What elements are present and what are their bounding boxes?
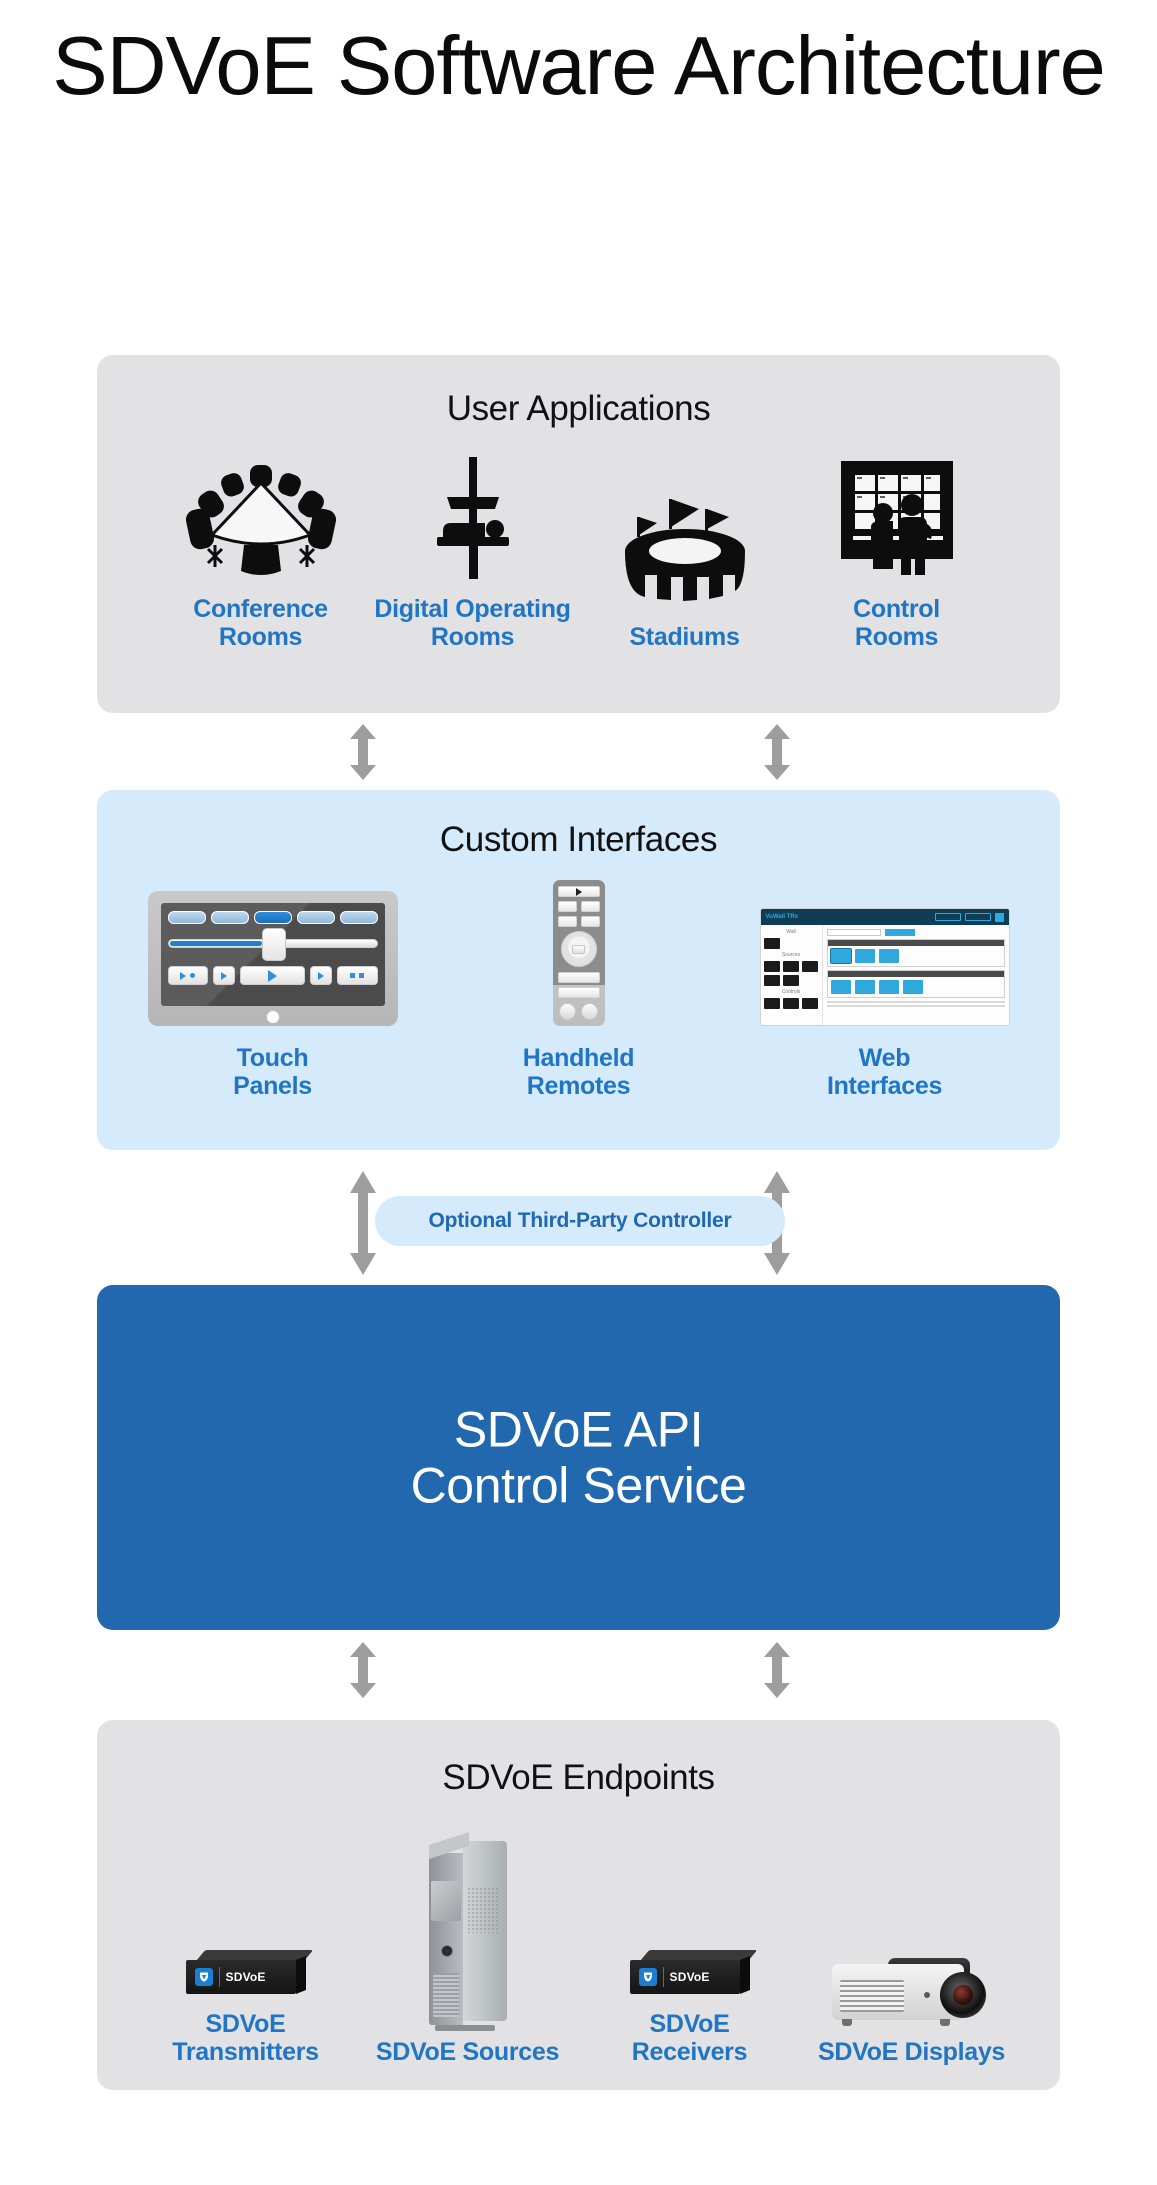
- item-conference-rooms[interactable]: Conference Rooms: [155, 449, 367, 651]
- double-arrow-vertical-icon: [350, 724, 376, 780]
- web-thumb[interactable]: [802, 998, 818, 1009]
- touch-panel-tab[interactable]: [340, 911, 378, 924]
- projector-lens: [940, 1972, 986, 2018]
- conference-room-icon: [155, 449, 367, 579]
- remote-key[interactable]: [558, 916, 577, 927]
- web-filter-select[interactable]: [827, 929, 881, 936]
- touch-panel-tab[interactable]: [168, 911, 206, 924]
- panel-title-sdvoe-endpoints: SDVoE Endpoints: [97, 1758, 1060, 1798]
- computer-tower-icon: [357, 1836, 579, 2026]
- web-thumb[interactable]: [764, 961, 780, 972]
- remote-ok-button[interactable]: [572, 945, 585, 954]
- web-tile[interactable]: [855, 949, 875, 963]
- web-toolbar-button[interactable]: [935, 913, 961, 921]
- item-sdvoe-displays[interactable]: SDVoE Displays: [801, 1836, 1023, 2066]
- optional-controller-label: Optional Third-Party Controller: [429, 1209, 732, 1233]
- web-toolbar-button[interactable]: [965, 913, 991, 921]
- double-arrow-vertical-icon: [350, 1171, 376, 1275]
- device-side-face: [740, 1956, 750, 1994]
- item-label: Stadiums: [579, 623, 791, 651]
- remote-off-key[interactable]: [581, 1003, 598, 1020]
- next-button[interactable]: [310, 966, 332, 985]
- next-icon: [318, 972, 324, 980]
- item-sdvoe-transmitters[interactable]: SDVoE SDVoE Transmitters: [135, 1808, 357, 2066]
- web-sidebar: Wall Sources Controls: [761, 925, 823, 1025]
- sdvoe-transmitter-icon: SDVoE: [135, 1808, 357, 1998]
- item-label: Control Rooms: [791, 595, 1003, 651]
- panel-custom-interfaces: Custom Interfaces: [97, 790, 1060, 1150]
- web-tile[interactable]: [855, 980, 875, 994]
- web-toolbar-icon[interactable]: [995, 913, 1004, 922]
- device-front-face: SDVoE: [186, 1960, 296, 1994]
- user-applications-items: Conference Rooms: [97, 449, 1060, 651]
- device-divider: [663, 1967, 664, 1987]
- remote-key[interactable]: [581, 901, 600, 912]
- web-interface-icon: VuWall TRx Wall Sources: [732, 876, 1038, 1026]
- operating-room-icon: [367, 449, 579, 579]
- tower-foot: [435, 2025, 495, 2031]
- tower-drive-bay: [431, 1881, 461, 1921]
- panel-title-user-applications: User Applications: [97, 389, 1060, 429]
- web-tile[interactable]: [879, 949, 899, 963]
- item-sdvoe-receivers[interactable]: SDVoE SDVoE Receivers: [579, 1808, 801, 2066]
- record-icon: [190, 973, 195, 978]
- device-side-face: [296, 1956, 306, 1994]
- web-thumb[interactable]: [783, 998, 799, 1009]
- projector-foot: [842, 2019, 852, 2026]
- touch-panel-tab[interactable]: [297, 911, 335, 924]
- web-card: [827, 970, 1005, 998]
- web-thumb[interactable]: [764, 938, 780, 949]
- touch-panel-tab[interactable]: [211, 911, 249, 924]
- handheld-remote-icon: [426, 876, 732, 1026]
- diagram-canvas: SDVoE Software Architecture User Applica…: [0, 0, 1157, 2185]
- web-tile[interactable]: [879, 980, 899, 994]
- play-button[interactable]: [240, 966, 305, 985]
- touch-panel-slider[interactable]: [168, 937, 378, 950]
- web-thumb[interactable]: [764, 975, 780, 986]
- remote-dpad[interactable]: [561, 931, 597, 967]
- slider-fill: [170, 941, 262, 946]
- touch-panel-tab-active[interactable]: [254, 911, 292, 924]
- play-icon: [180, 972, 186, 980]
- item-stadiums[interactable]: Stadiums: [579, 477, 791, 651]
- sdvoe-logo-icon: [195, 1968, 213, 1986]
- stop-buttons[interactable]: [337, 966, 378, 985]
- projector-foot: [940, 2019, 950, 2026]
- panel-user-applications: User Applications: [97, 355, 1060, 713]
- device-front-face: SDVoE: [630, 1960, 740, 1994]
- projector-indicator: [924, 1992, 930, 1998]
- device-brand-text: SDVoE: [670, 1970, 710, 1984]
- tower-grill: [433, 1973, 459, 2017]
- double-arrow-vertical-icon: [350, 1642, 376, 1698]
- double-arrow-vertical-icon: [764, 724, 790, 780]
- stadium-icon: [579, 477, 791, 607]
- item-sdvoe-sources[interactable]: SDVoE Sources: [357, 1836, 579, 2066]
- prev-button[interactable]: [213, 966, 235, 985]
- item-label: SDVoE Transmitters: [135, 2010, 357, 2066]
- item-label: SDVoE Sources: [357, 2038, 579, 2066]
- web-thumb[interactable]: [802, 961, 818, 972]
- web-add-button[interactable]: [885, 929, 915, 936]
- touch-panel-icon: [120, 876, 426, 1026]
- web-tile[interactable]: [903, 980, 923, 994]
- tower-vents: [467, 1887, 499, 1933]
- home-button[interactable]: [266, 1010, 280, 1024]
- touch-panel-button[interactable]: [168, 966, 209, 985]
- remote-key[interactable]: [581, 916, 600, 927]
- device-brand-text: SDVoE: [226, 1970, 266, 1984]
- optional-third-party-controller-badge: Optional Third-Party Controller: [375, 1196, 785, 1246]
- panel-title-custom-interfaces: Custom Interfaces: [97, 820, 1060, 860]
- web-thumb[interactable]: [764, 998, 780, 1009]
- stop-icon: [350, 973, 355, 978]
- item-handheld-remotes[interactable]: Handheld Remotes: [426, 876, 732, 1100]
- previous-icon: [221, 972, 227, 980]
- panel-sdvoe-api-control-service: SDVoE API Control Service: [97, 1285, 1060, 1630]
- web-tile-selected[interactable]: [831, 949, 851, 963]
- control-room-icon: [791, 449, 1003, 579]
- item-label: Conference Rooms: [155, 595, 367, 651]
- double-arrow-vertical-icon: [764, 1642, 790, 1698]
- panel-sdvoe-endpoints: SDVoE Endpoints SDVoE: [97, 1720, 1060, 2090]
- web-app-title: VuWall TRx: [766, 914, 799, 920]
- item-web-interfaces[interactable]: VuWall TRx Wall Sources: [732, 876, 1038, 1100]
- device-divider: [219, 1967, 220, 1987]
- item-label: Web Interfaces: [732, 1044, 1038, 1100]
- item-label: SDVoE Receivers: [579, 2010, 801, 2066]
- web-sidebar-label: Sources: [764, 952, 819, 958]
- item-control-rooms[interactable]: Control Rooms: [791, 449, 1003, 651]
- web-sidebar-label: Wall: [764, 929, 819, 935]
- api-service-label: SDVoE API Control Service: [97, 1401, 1060, 1514]
- web-thumb[interactable]: [783, 975, 799, 986]
- play-icon: [268, 970, 277, 982]
- projector-vents: [840, 1980, 904, 2012]
- remote-menu-key[interactable]: [558, 987, 600, 998]
- remote-round-key[interactable]: [559, 1003, 576, 1020]
- remote-playlist-key[interactable]: [558, 972, 600, 983]
- projector-icon: [801, 1836, 1023, 2026]
- web-card: [827, 939, 1005, 967]
- item-touch-panels[interactable]: Touch Panels: [120, 876, 426, 1100]
- slider-knob[interactable]: [262, 928, 286, 961]
- item-label: Handheld Remotes: [426, 1044, 732, 1100]
- stop-icon: [359, 973, 364, 978]
- web-divider: [827, 1001, 1005, 1003]
- web-sidebar-label: Controls: [764, 989, 819, 995]
- sdvoe-receiver-icon: SDVoE: [579, 1808, 801, 1998]
- web-main-area: [823, 925, 1009, 1025]
- web-divider: [827, 1005, 1005, 1007]
- custom-interfaces-items: Touch Panels: [97, 876, 1060, 1100]
- power-button[interactable]: [441, 1945, 453, 1957]
- web-thumb[interactable]: [783, 961, 799, 972]
- page-title: SDVoE Software Architecture: [0, 22, 1157, 111]
- item-label: SDVoE Displays: [801, 2038, 1023, 2066]
- item-label: Digital Operating Rooms: [367, 595, 579, 651]
- item-label: Touch Panels: [120, 1044, 426, 1100]
- web-tile[interactable]: [831, 980, 851, 994]
- remote-power-key[interactable]: [558, 886, 600, 897]
- item-digital-operating-rooms[interactable]: Digital Operating Rooms: [367, 449, 579, 651]
- remote-key[interactable]: [558, 901, 577, 912]
- sdvoe-logo-icon: [639, 1968, 657, 1986]
- endpoints-items: SDVoE SDVoE Transmitters: [97, 1808, 1060, 2066]
